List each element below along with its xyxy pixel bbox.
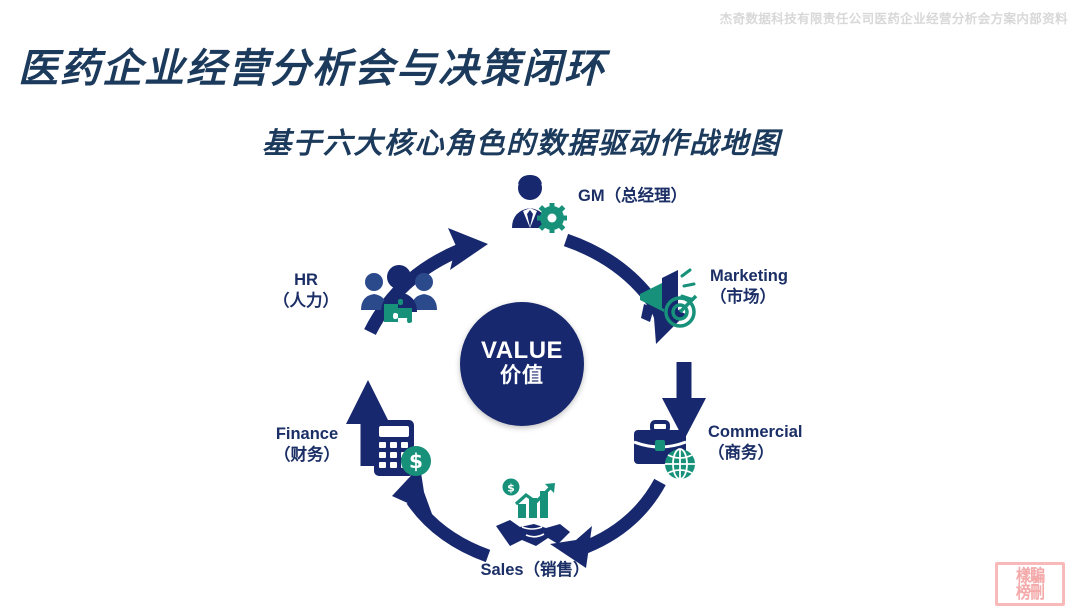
node-label-marketing-cn: （市场） <box>710 287 788 308</box>
node-label-finance-cn: （财务） <box>254 445 360 466</box>
node-label-commercial-en: Commercial <box>708 422 802 443</box>
megaphone-target-icon[interactable] <box>632 264 702 334</box>
node-label-finance: Finance （财务） <box>254 424 360 466</box>
businessman-gear-icon[interactable] <box>500 170 570 240</box>
value-center-circle: VALUE 价值 <box>460 302 584 426</box>
value-cycle-diagram: VALUE 价值 GM（总经理） <box>248 166 832 586</box>
node-label-sales: Sales（销售） <box>460 560 610 581</box>
node-label-hr-en: HR <box>260 270 352 291</box>
node-label-commercial-cn: （商务） <box>708 443 802 464</box>
node-label-commercial: Commercial （商务） <box>708 422 802 464</box>
company-seal-stamp: 樣騙 榜刪 <box>995 562 1065 606</box>
node-label-gm: GM（总经理） <box>578 186 687 207</box>
value-center-label-cn: 价值 <box>500 363 544 389</box>
node-label-marketing-en: Marketing <box>710 266 788 287</box>
page-subtitle: 基于六大核心角色的数据驱动作战地图 <box>262 120 781 162</box>
value-center-label-en: VALUE <box>481 338 563 363</box>
watermark-text: 杰奇数据科技有限责任公司医药企业经营分析会方案内部资料 <box>720 8 1068 27</box>
node-label-hr-cn: （人力） <box>260 291 352 312</box>
page-title: 医药企业经营分析会与决策闭环 <box>18 36 606 94</box>
node-label-marketing: Marketing （市场） <box>710 266 788 308</box>
handshake-growth-icon[interactable]: $ <box>492 478 578 554</box>
people-puzzle-icon[interactable] <box>360 262 440 332</box>
node-label-hr: HR （人力） <box>260 270 352 312</box>
node-label-gm-text: GM（总经理） <box>578 186 687 207</box>
node-label-sales-text: Sales（销售） <box>460 560 610 581</box>
company-seal-text: 樣騙 榜刪 <box>1016 568 1044 601</box>
node-label-finance-en: Finance <box>254 424 360 445</box>
svg-text:$: $ <box>409 449 423 473</box>
calculator-dollar-icon[interactable]: $ <box>366 414 436 484</box>
briefcase-globe-icon[interactable] <box>630 414 700 484</box>
svg-text:$: $ <box>507 482 515 495</box>
